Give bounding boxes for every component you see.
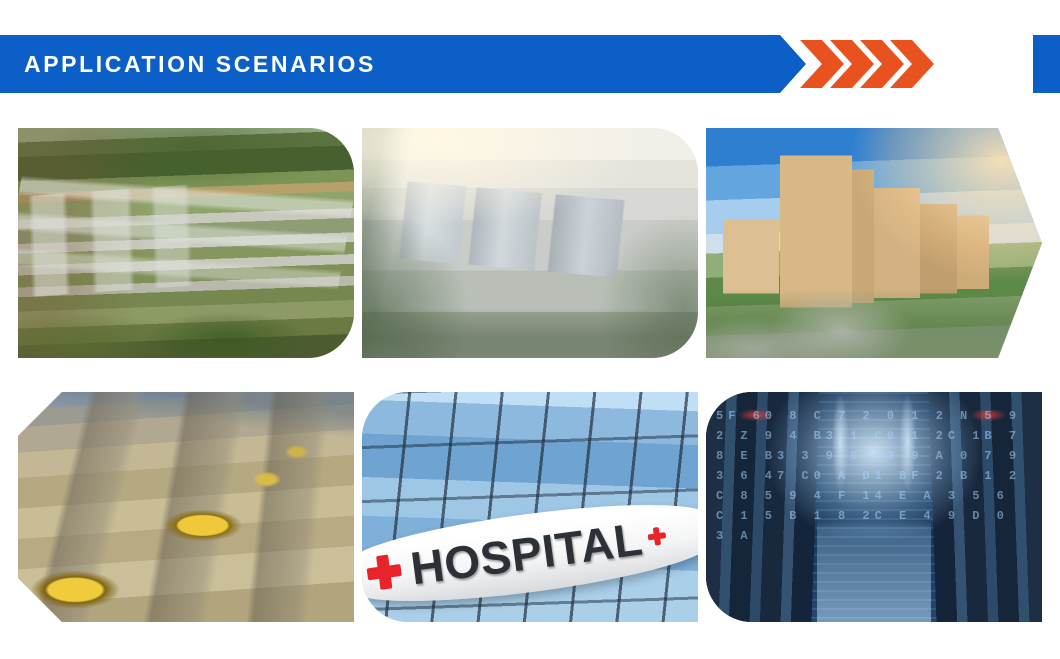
red-cross-icon [647,526,667,546]
banner-end-block [1033,35,1060,93]
scenario-card-grid: HOSPITAL 5F 60 8 C 7 2 0 1 2 N 5 9 2 Z 9… [18,128,1042,622]
scenario-card-residential[interactable] [706,128,1042,358]
residential-apartment-complex-image [706,128,1042,358]
scenario-card-agriculture[interactable] [18,128,354,358]
chevron-arrow-group [800,35,946,93]
page-title: APPLICATION SCENARIOS [24,35,376,93]
scenario-card-hospital[interactable]: HOSPITAL [362,392,698,622]
section-header-banner: APPLICATION SCENARIOS [0,35,1060,93]
open-pit-mining-site-image [18,392,354,622]
scenario-card-mining[interactable] [18,392,354,622]
datacenter-hex-overlay-text: 5F 60 8 C 7 2 0 1 2 N 5 9 2 Z 9 4 B3 1 C… [706,392,1042,622]
scenario-card-industrial[interactable] [362,128,698,358]
industrial-warehouse-park-image [362,128,698,358]
scenario-card-datacenter[interactable]: 5F 60 8 C 7 2 0 1 2 N 5 9 2 Z 9 4 B3 1 C… [706,392,1042,622]
red-cross-icon [365,553,403,591]
agriculture-greenhouse-farm-image [18,128,354,358]
